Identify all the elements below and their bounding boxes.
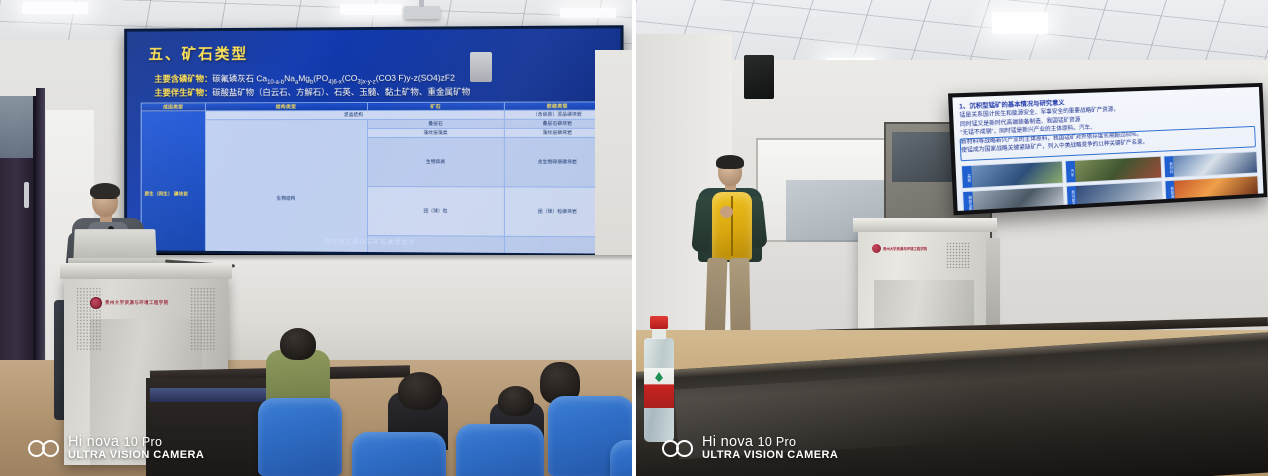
ceiling-light — [992, 12, 1048, 34]
audience-member-head — [498, 386, 534, 416]
dual-ring-lens-icon — [662, 440, 693, 457]
ceiling-light — [340, 4, 402, 15]
desk-monitor — [150, 388, 270, 402]
auditorium-seat[interactable] — [352, 432, 446, 476]
camera-watermark: Hi nova 10 Pro ULTRA VISION CAMERA — [28, 435, 204, 462]
bottle-neck — [652, 329, 666, 339]
cell-structure-type: 藻纹层藻类 — [368, 128, 505, 137]
wall-speaker — [744, 55, 774, 99]
projection-screen: 五、矿石类型 主要含磷矿物：碳氟磷灰石 Ca10-a-bNaaMgb(PO4)6… — [124, 25, 623, 257]
camera-watermark: Hi nova 10 Pro ULTRA VISION CAMERA — [662, 435, 838, 462]
wall-shadow — [120, 255, 632, 261]
ceiling-light — [22, 2, 88, 14]
formula-sub: )x-y-z — [361, 80, 376, 86]
cell-structure-type: 生物碎屑 — [368, 137, 505, 186]
watermark-brand: Hi nova — [68, 434, 119, 450]
auditorium-seat[interactable] — [456, 424, 544, 476]
slide-photo — [1076, 181, 1163, 207]
laptop-screen — [73, 229, 156, 261]
watermark-brand: Hi nova — [702, 434, 753, 450]
bottle-cap — [650, 316, 668, 329]
watermark-subtitle: ULTRA VISION CAMERA — [702, 450, 838, 462]
auditorium-seat[interactable] — [258, 398, 342, 476]
lectern-top-surface — [60, 263, 232, 279]
slide-bullet-2: 主要伴生矿物：碳酸盐矿物（白云石、方解石）、石英、玉髓、黏土矿物、重金属矿物 — [154, 86, 470, 99]
university-seal-icon — [872, 244, 881, 253]
formula-sub: )6-x — [332, 80, 342, 86]
formula-sub: 10-a-b — [267, 80, 284, 86]
vest-zipper — [731, 196, 733, 256]
water-bottle[interactable] — [644, 316, 674, 442]
table-body: 原生（同生） 磷块岩泥晶结构（含碳质）泥晶磷块岩-生物结构叠层石叠层石磷块岩-藻… — [141, 110, 611, 257]
formula-tail: (CO3 F)y-z(SO4)zF2 — [376, 73, 455, 83]
right-photo-lecture-room: 1、沉积型锰矿的基本情况与研究意义 锰是关系国计民生和能源安全、军事安全的重要战… — [636, 0, 1268, 476]
auditorium-seat[interactable] — [610, 440, 632, 476]
lectern-institution-name: 贵州大学资源与环境工程学院 — [105, 300, 169, 306]
slide-bullet-2-value: 碳酸盐矿物（白云石、方解石）、石英、玉髓、黏土矿物、重金属矿物 — [212, 87, 470, 98]
presenter-hair — [716, 155, 744, 169]
col-ore: 矿石 — [368, 102, 505, 110]
formula-mg: Mg — [298, 73, 310, 83]
slide-title: 五、矿石类型 — [148, 43, 248, 64]
presentation-display: 1、沉积型锰矿的基本情况与研究意义 锰是关系国计民生和能源安全、军事安全的重要战… — [948, 83, 1267, 215]
watermark-text: Hi nova 10 Pro ULTRA VISION CAMERA — [68, 435, 204, 462]
watermark-text: Hi nova 10 Pro ULTRA VISION CAMERA — [702, 435, 838, 462]
cell-structure-type: 叠层石 — [368, 119, 505, 128]
slide-bullet-2-label: 主要伴生矿物： — [154, 88, 212, 98]
slide-bullet-1-value: 碳氟磷灰石 Ca — [212, 73, 267, 83]
col-genesis-type: 成因类型 — [141, 103, 205, 111]
watermark-subtitle: ULTRA VISION CAMERA — [68, 450, 204, 462]
slide-photo — [971, 162, 1062, 188]
door-glass-panel — [0, 96, 33, 158]
formula-co3: (CO — [342, 73, 358, 83]
ceiling-light — [560, 8, 616, 18]
slide-image-cell: 汽车 — [1064, 156, 1162, 184]
watermark-model: 10 Pro — [124, 435, 163, 449]
slide-photo — [973, 187, 1064, 213]
cell-structure-type: 团（球）粒 — [368, 186, 505, 236]
watermark-model: 10 Pro — [758, 435, 797, 449]
slide-photo — [1174, 176, 1258, 201]
lens-ring — [42, 440, 59, 457]
lectern-side-panel — [986, 238, 1000, 334]
dual-photo-composite: 五、矿石类型 主要含磷矿物：碳氟磷灰石 Ca10-a-bNaaMgb(PO4)6… — [0, 0, 1268, 476]
slide-photo — [1074, 157, 1161, 182]
lectern-speaker-mesh — [946, 242, 970, 268]
lectern-institution-name: 贵州大学资源与环境工程学院 — [883, 246, 927, 251]
presenter-glasses — [94, 198, 117, 203]
slide-image-cell: 新材料 — [1164, 151, 1258, 178]
entrance-door[interactable] — [0, 96, 36, 396]
formula-po4: (PO — [313, 73, 328, 83]
audience-member-head — [280, 328, 316, 360]
audience-member-head — [398, 372, 442, 410]
lens-ring — [676, 440, 693, 457]
left-photo-lecture-hall: 五、矿石类型 主要含磷矿物：碳氟磷灰石 Ca10-a-bNaaMgb(PO4)6… — [0, 0, 632, 476]
slide-bullet-1-label: 主要含磷矿物： — [154, 74, 212, 84]
lectern-top-surface — [853, 218, 997, 232]
table-row: 生物结构叠层石叠层石磷块岩- — [141, 119, 611, 128]
presenter-hand — [720, 206, 733, 218]
lectern-institution-logo: 贵州大学资源与环境工程学院 — [90, 295, 202, 311]
presenter-hair — [90, 183, 120, 199]
dual-ring-lens-icon — [28, 440, 59, 457]
slide-bullet-1: 主要含磷矿物：碳氟磷灰石 Ca10-a-bNaaMgb(PO4)6-x(CO3)… — [154, 72, 455, 87]
slide-photo — [1173, 152, 1257, 177]
lectern-institution-logo: 贵州大学资源与环境工程学院 — [872, 244, 927, 253]
wall-speaker — [470, 52, 492, 82]
door-frame — [36, 88, 45, 400]
ceiling-projector — [404, 6, 440, 19]
slide-image-cell: 高铁 — [961, 160, 1064, 189]
formula-na: Na — [284, 73, 295, 83]
door-handle[interactable] — [24, 182, 29, 208]
cell-structure-type: 泥晶结构 — [205, 110, 504, 119]
university-seal-icon — [90, 297, 102, 309]
ore-type-table: 成因类型 结构类型 矿石 胶结类型 原生（同生） 磷块岩泥晶结构（含碳质）泥晶磷… — [141, 101, 612, 256]
